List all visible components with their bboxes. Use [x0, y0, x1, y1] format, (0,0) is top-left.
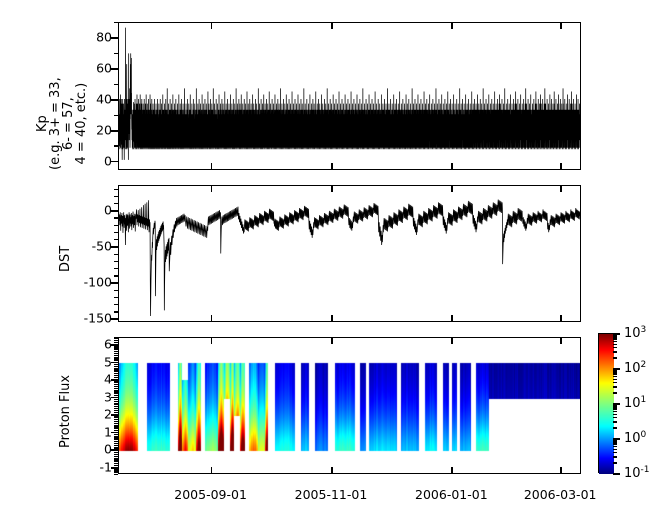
- ytick-minor: [114, 225, 118, 226]
- colorbar-tick-minor: [613, 335, 617, 336]
- ytick-label: 6: [70, 337, 112, 352]
- ytick-minor: [114, 469, 118, 470]
- proton-flux-axis-label: Proton Flux: [58, 375, 73, 448]
- kp-panel: [118, 22, 581, 170]
- ytick-label: -1: [70, 459, 112, 474]
- ytick-minor: [114, 392, 118, 393]
- ytick-minor: [114, 408, 118, 409]
- colorbar-tick-minor: [613, 462, 617, 463]
- colorbar-tick-minor: [613, 421, 617, 422]
- ytick-major: [111, 318, 118, 320]
- ytick-major: [111, 161, 118, 163]
- colorbar-tick-minor: [613, 373, 617, 374]
- proton-flux-plot-area: [119, 338, 580, 473]
- ytick-label: 0: [70, 203, 112, 218]
- ytick-minor: [114, 460, 118, 461]
- ytick-minor: [114, 395, 118, 396]
- ytick-label: 4: [70, 372, 112, 387]
- colorbar-tick-minor: [613, 449, 617, 450]
- ytick-major: [111, 130, 118, 132]
- kp-trace: [119, 23, 580, 169]
- ytick-minor: [114, 423, 118, 424]
- proton-flux-spectrogram-canvas: [119, 338, 580, 473]
- xtick-major-top: [560, 22, 562, 29]
- ytick-minor: [114, 377, 118, 378]
- xtick-major: [211, 163, 213, 170]
- ytick-label: -100: [70, 275, 112, 290]
- ytick-minor: [114, 196, 118, 197]
- ytick-label: 2: [70, 407, 112, 422]
- ytick-major: [111, 37, 118, 39]
- colorbar-tick-minor: [613, 382, 617, 383]
- colorbar-tick-minor: [613, 456, 617, 457]
- ytick-minor: [114, 463, 118, 464]
- ytick-minor: [114, 427, 118, 428]
- ytick-minor: [114, 370, 118, 371]
- colorbar-tick-minor: [613, 370, 617, 371]
- xtick-major-top: [451, 185, 453, 192]
- ytick-minor: [114, 388, 118, 389]
- colorbar-tick-label: 10-1: [624, 465, 650, 481]
- ytick-minor: [114, 254, 118, 255]
- ytick-label: 0: [70, 442, 112, 457]
- ytick-major: [111, 210, 118, 212]
- ytick-minor: [114, 217, 118, 218]
- ytick-minor: [114, 268, 118, 269]
- xtick-major-top: [451, 337, 453, 344]
- colorbar-tick-minor: [613, 452, 617, 453]
- ytick-minor: [114, 290, 118, 291]
- dst-trace: [119, 186, 580, 321]
- colorbar-tick-label: 101: [624, 395, 646, 411]
- colorbar-tick-minor: [613, 351, 617, 352]
- xtick-major: [331, 315, 333, 322]
- ytick-minor: [114, 452, 118, 453]
- ytick-minor: [114, 436, 118, 437]
- colorbar-tick-minor: [613, 386, 617, 387]
- colorbar-tick-minor: [613, 357, 617, 358]
- colorbar-tick-label: 100: [624, 430, 646, 446]
- ytick-minor: [114, 458, 118, 459]
- ytick-minor: [114, 474, 118, 475]
- ytick-minor: [114, 419, 118, 420]
- colorbar-tick-minor: [613, 406, 617, 407]
- ytick-major: [111, 246, 118, 248]
- colorbar-tick-minor: [613, 405, 617, 406]
- ytick-minor: [114, 189, 118, 190]
- ytick-minor: [114, 375, 118, 376]
- colorbar-tick-minor: [613, 440, 617, 441]
- ytick-minor: [114, 447, 118, 448]
- proton-flux-panel: [118, 337, 581, 474]
- colorbar-tick-minor: [613, 446, 617, 447]
- xtick-major: [331, 467, 333, 474]
- ytick-minor: [114, 434, 118, 435]
- ytick-minor: [114, 346, 118, 347]
- xtick-major: [211, 467, 213, 474]
- colorbar-tick-minor: [613, 338, 617, 339]
- ytick-label: 80: [70, 30, 112, 45]
- ytick-minor: [114, 399, 118, 400]
- colorbar: [598, 333, 613, 473]
- ytick-minor: [114, 386, 118, 387]
- xtick-major-top: [560, 337, 562, 344]
- ytick-minor: [114, 366, 118, 367]
- ytick-minor: [114, 430, 118, 431]
- colorbar-tick-minor: [613, 411, 617, 412]
- ytick-minor: [114, 425, 118, 426]
- ytick-minor: [114, 373, 118, 374]
- ytick-label: 60: [70, 61, 112, 76]
- ytick-minor: [114, 471, 118, 472]
- xtick-major: [451, 163, 453, 170]
- dst-plot-area: [119, 186, 580, 321]
- colorbar-tick-minor: [613, 441, 617, 442]
- ytick-minor: [114, 311, 118, 312]
- xtick-major-top: [331, 337, 333, 344]
- colorbar-tick-minor: [613, 347, 617, 348]
- xtick-label: 2005-11-01: [295, 487, 368, 502]
- ytick-minor: [114, 443, 118, 444]
- xtick-major: [560, 467, 562, 474]
- colorbar-tick-minor: [613, 371, 617, 372]
- ytick-minor: [114, 403, 118, 404]
- colorbar-tick-minor: [613, 336, 617, 337]
- dst-axis-label: DST: [58, 246, 73, 272]
- dst-panel: [118, 185, 581, 322]
- ytick-minor: [114, 384, 118, 385]
- ytick-major: [111, 99, 118, 101]
- ytick-minor: [114, 203, 118, 204]
- ytick-minor: [114, 364, 118, 365]
- ytick-minor: [114, 261, 118, 262]
- xtick-major: [331, 163, 333, 170]
- colorbar-tick-minor: [613, 376, 617, 377]
- colorbar-tick-minor: [613, 392, 617, 393]
- ytick-minor: [114, 297, 118, 298]
- space-weather-figure: 020406080 Kp (e.g. 3+ = 33, 6- = 57, 4 =…: [0, 0, 665, 523]
- ytick-minor: [114, 406, 118, 407]
- colorbar-tick-minor: [613, 408, 617, 409]
- ytick-minor: [114, 465, 118, 466]
- colorbar-tick-minor: [613, 427, 617, 428]
- ytick-minor: [114, 84, 118, 85]
- ytick-label: -50: [70, 239, 112, 254]
- colorbar-tick-label: 102: [624, 360, 646, 376]
- kp-label-line-3: 4 = 40, etc.): [75, 77, 88, 170]
- ytick-minor: [114, 239, 118, 240]
- xtick-major: [451, 467, 453, 474]
- ytick-minor: [114, 351, 118, 352]
- ytick-minor: [114, 410, 118, 411]
- xtick-major-top: [211, 337, 213, 344]
- colorbar-tick-minor: [613, 344, 617, 345]
- xtick-major: [451, 315, 453, 322]
- xtick-major: [560, 315, 562, 322]
- xtick-major-top: [331, 185, 333, 192]
- ytick-minor: [114, 53, 118, 54]
- xtick-label: 2006-03-01: [524, 487, 597, 502]
- ytick-minor: [114, 454, 118, 455]
- ytick-minor: [114, 441, 118, 442]
- colorbar-tick-label: 103: [624, 325, 646, 341]
- ytick-minor: [114, 348, 118, 349]
- ytick-minor: [114, 342, 118, 343]
- xtick-major-top: [331, 22, 333, 29]
- xtick-major-top: [451, 22, 453, 29]
- ytick-minor: [114, 412, 118, 413]
- xtick-major: [560, 163, 562, 170]
- ytick-minor: [114, 416, 118, 417]
- ytick-minor: [114, 390, 118, 391]
- ytick-minor: [114, 355, 118, 356]
- ytick-minor: [114, 232, 118, 233]
- colorbar-tick-minor: [613, 341, 617, 342]
- colorbar-gradient: [599, 334, 614, 474]
- colorbar-tick-minor: [613, 417, 617, 418]
- ytick-minor: [114, 359, 118, 360]
- kp-axis-label: Kp (e.g. 3+ = 33, 6- = 57, 4 = 40, etc.): [36, 77, 88, 170]
- ytick-minor: [114, 381, 118, 382]
- ytick-minor: [114, 275, 118, 276]
- ytick-major: [111, 68, 118, 70]
- ytick-minor: [114, 115, 118, 116]
- ytick-minor: [114, 421, 118, 422]
- xtick-major: [211, 315, 213, 322]
- kp-plot-area: [119, 23, 580, 169]
- ytick-major: [111, 282, 118, 284]
- xtick-major-top: [211, 22, 213, 29]
- ytick-minor: [114, 438, 118, 439]
- xtick-label: 2006-01-01: [415, 487, 488, 502]
- ytick-minor: [114, 22, 118, 23]
- ytick-minor: [114, 337, 118, 338]
- colorbar-tick-minor: [613, 414, 617, 415]
- ytick-minor: [114, 353, 118, 354]
- ytick-minor: [114, 357, 118, 358]
- ytick-minor: [114, 340, 118, 341]
- ytick-label: 1: [70, 424, 112, 439]
- ytick-minor: [114, 401, 118, 402]
- xtick-major-top: [211, 185, 213, 192]
- colorbar-tick-minor: [613, 443, 617, 444]
- ytick-label: 5: [70, 354, 112, 369]
- ytick-minor: [114, 445, 118, 446]
- ytick-label: 3: [70, 389, 112, 404]
- xtick-label: 2005-09-01: [174, 487, 247, 502]
- colorbar-tick-major: [613, 473, 620, 475]
- xtick-major-top: [560, 185, 562, 192]
- ytick-minor: [114, 456, 118, 457]
- ytick-minor: [114, 368, 118, 369]
- colorbar-tick-minor: [613, 379, 617, 380]
- ytick-minor: [114, 145, 118, 146]
- ytick-label: -150: [70, 311, 112, 326]
- ytick-minor: [114, 304, 118, 305]
